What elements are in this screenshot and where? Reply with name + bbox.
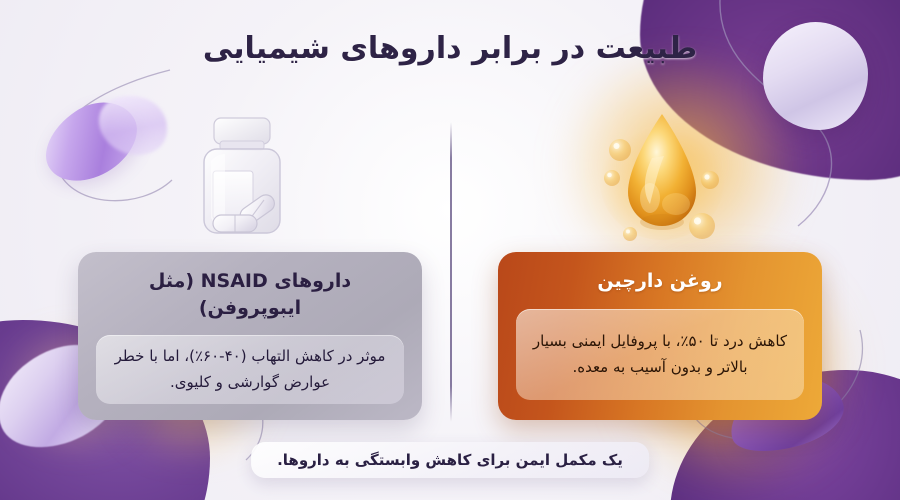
card-cinnamon-oil-body: کاهش درد تا ۵۰٪، با پروفایل ایمنی بسیار … [516, 309, 804, 400]
card-nsaid-title: داروهای NSAID (مثل ایبوپروفن) [96, 268, 404, 321]
vertical-divider [450, 122, 452, 422]
page-title: طبیعت در برابر داروهای شیمیایی [0, 28, 900, 71]
card-cinnamon-oil-title: روغن دارچین [516, 268, 804, 295]
pill-bottle-icon [180, 105, 310, 245]
card-cinnamon-oil: روغن دارچین کاهش درد تا ۵۰٪، با پروفایل … [498, 252, 822, 420]
card-nsaid-body: موثر در کاهش التهاب (۴۰-۶۰٪)، اما با خطر… [96, 335, 404, 404]
oil-drop-icon [592, 100, 732, 250]
footer-note: یک مکمل ایمن برای کاهش وابستگی به داروها… [251, 442, 649, 478]
infographic-canvas: طبیعت در برابر داروهای شیمیایی [0, 0, 900, 500]
purple-pebble-top-left [31, 86, 150, 197]
light-pebble-top-left [91, 87, 175, 164]
card-nsaid: داروهای NSAID (مثل ایبوپروفن) موثر در کا… [78, 252, 422, 420]
